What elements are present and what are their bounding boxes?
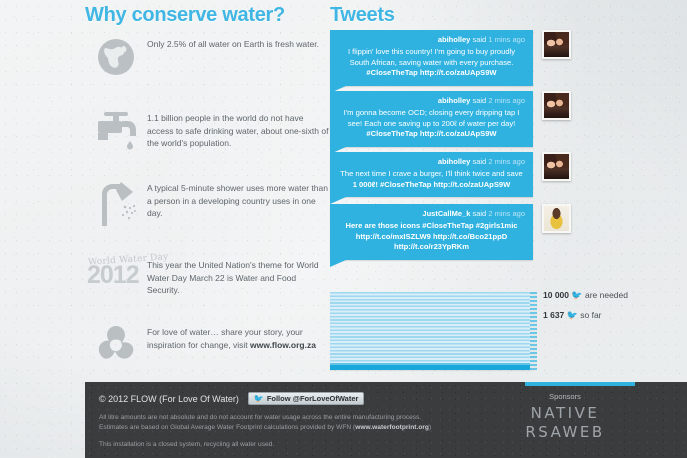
tweet-header: abiholley said 1 mins ago <box>338 35 525 45</box>
tweet-header: abiholley said 2 mins ago <box>338 157 525 167</box>
tweet-username[interactable]: abiholley <box>438 157 471 166</box>
progress-gauge <box>530 292 537 370</box>
follow-button-label: Follow @ForLoveOfWater <box>267 394 359 403</box>
tweet-bubble: JustCallMe_k said 2 mins ago Here are th… <box>330 204 533 260</box>
tweet-item: abiholley said 2 mins ago I'm gonna beco… <box>330 91 533 147</box>
chart-baseline <box>330 365 532 370</box>
tweet-bubble: abiholley said 2 mins ago The next time … <box>330 152 533 197</box>
follow-button[interactable]: 🐦 Follow @ForLoveOfWater <box>248 392 365 405</box>
counter-number: 1 637 <box>543 310 564 320</box>
footer-accent-bar <box>525 382 635 386</box>
shower-icon <box>85 178 147 228</box>
tweet-hashtag-link[interactable]: Here are those icons #CloseTheTap #2girl… <box>345 221 517 230</box>
tweet-username[interactable]: JustCallMe_k <box>422 209 470 218</box>
tweet-hashtag-link[interactable]: 1 000ℓ! #CloseTheTap http://t.co/zaUApS9… <box>353 180 511 189</box>
tweet-timestamp: 2 mins ago <box>488 209 525 218</box>
fact-text: Only 2.5% of all water on Earth is fresh… <box>147 34 319 51</box>
tweet-username[interactable]: abiholley <box>438 35 471 44</box>
fact-text: This year the United Nation's theme for … <box>147 255 330 297</box>
sponsors-label: Sponsors <box>470 392 660 401</box>
footer: © 2012 FLOW (For Love Of Water) 🐦 Follow… <box>85 382 687 458</box>
fact-text: For love of water… share your story, you… <box>147 322 330 351</box>
twitter-bird-icon: 🐦 <box>567 310 578 320</box>
tweet-hashtag-link[interactable]: #CloseTheTap http://t.co/zaUApS9W <box>366 68 496 77</box>
fact-text: A typical 5-minute shower uses more wate… <box>147 178 330 220</box>
tweet-body: The next time I crave a burger, I'll thi… <box>338 169 525 190</box>
avatar <box>542 91 571 120</box>
tweet-line: I flippin' love this country! I'm going … <box>338 47 525 58</box>
tweet-bubble: abiholley said 1 mins ago I flippin' lov… <box>330 30 533 86</box>
tweet-said-label: said <box>472 157 486 166</box>
tweet-timestamp: 2 mins ago <box>488 157 525 166</box>
tweet-header: JustCallMe_k said 2 mins ago <box>338 209 525 219</box>
tweet-body: I'm gonna become OCD; closing every drip… <box>338 108 525 140</box>
fact-item: A typical 5-minute shower uses more wate… <box>85 178 330 228</box>
tweet-line: The next time I crave a burger, I'll thi… <box>338 169 525 180</box>
tweets-title: Tweets <box>330 4 395 27</box>
tweet-item: abiholley said 2 mins ago The next time … <box>330 152 533 197</box>
tweet-timestamp: 2 mins ago <box>488 96 525 105</box>
tweet-said-label: said <box>472 96 486 105</box>
world-water-day-2012-icon: World Water Day 2012 <box>85 255 147 301</box>
disclaimer-text-2: This installation is a closed system, re… <box>99 440 444 450</box>
sponsors-block: Sponsors NATIVE RSAWEB <box>470 392 660 442</box>
tweet-line: see! Each one saving up to 200ℓ of water… <box>338 119 525 130</box>
disclaimer-text: All litre amounts are not absolute and d… <box>99 413 444 433</box>
counter-so-far: 1 637 🐦 so far <box>543 310 663 322</box>
waterfootprint-link[interactable]: www.waterfootprint.org <box>355 424 429 431</box>
avatar <box>542 152 571 181</box>
tweet-hashtag-link[interactable]: #CloseTheTap http://t.co/zaUApS9W <box>366 129 496 138</box>
twitter-bird-icon: 🐦 <box>571 290 582 300</box>
tweet-line: South African, saving water with every p… <box>338 58 525 69</box>
tweet-said-label: said <box>472 209 486 218</box>
tweet-links[interactable]: http://t.co/mxISZLW9 http://t.co/Bco21pp… <box>356 232 507 252</box>
tweet-progress-chart <box>330 292 532 370</box>
tap-icon <box>85 108 147 160</box>
tweet-item: abiholley said 1 mins ago I flippin' lov… <box>330 30 533 86</box>
sponsor-logo-rsaweb: RSAWEB <box>470 423 660 442</box>
recycle-icon <box>85 322 147 366</box>
tweet-body: Here are those icons #CloseTheTap #2girl… <box>338 221 525 253</box>
avatar <box>542 30 571 59</box>
tweet-header: abiholley said 2 mins ago <box>338 96 525 106</box>
tweet-item: JustCallMe_k said 2 mins ago Here are th… <box>330 204 533 260</box>
wwd-logo-year: 2012 <box>87 261 139 290</box>
why-conserve-water-title: Why conserve water? <box>85 4 285 27</box>
fact-item: For love of water… share your story, you… <box>85 322 330 366</box>
fact-item: Only 2.5% of all water on Earth is fresh… <box>85 34 330 80</box>
tweet-said-label: said <box>472 35 486 44</box>
tweet-line: I'm gonna become OCD; closing every drip… <box>338 108 525 119</box>
twitter-bird-icon: 🐦 <box>254 394 264 403</box>
sponsor-logo-native: NATIVE <box>470 404 660 423</box>
disclaimer-tail: ) <box>429 424 431 431</box>
counter-needed: 10 000 🐦 are needed <box>543 290 663 302</box>
copyright-text: © 2012 FLOW (For Love Of Water) <box>99 394 239 404</box>
tweet-body: I flippin' love this country! I'm going … <box>338 47 525 79</box>
tweet-username[interactable]: abiholley <box>438 96 471 105</box>
tweet-bubble: abiholley said 2 mins ago I'm gonna beco… <box>330 91 533 147</box>
fact-item: World Water Day 2012 This year the Unite… <box>85 255 330 301</box>
avatar <box>542 204 571 233</box>
counter-label: are needed <box>585 290 628 300</box>
counters-panel: 10 000 🐦 are needed 1 637 🐦 so far <box>543 290 663 329</box>
counter-number: 10 000 <box>543 290 569 300</box>
globe-icon <box>85 34 147 80</box>
flow-website-link[interactable]: www.flow.org.za <box>250 340 316 350</box>
counter-label: so far <box>580 310 601 320</box>
tweet-timestamp: 1 mins ago <box>488 35 525 44</box>
fact-item: 1.1 billion people in the world do not h… <box>85 108 330 160</box>
fact-text: 1.1 billion people in the world do not h… <box>147 108 330 150</box>
